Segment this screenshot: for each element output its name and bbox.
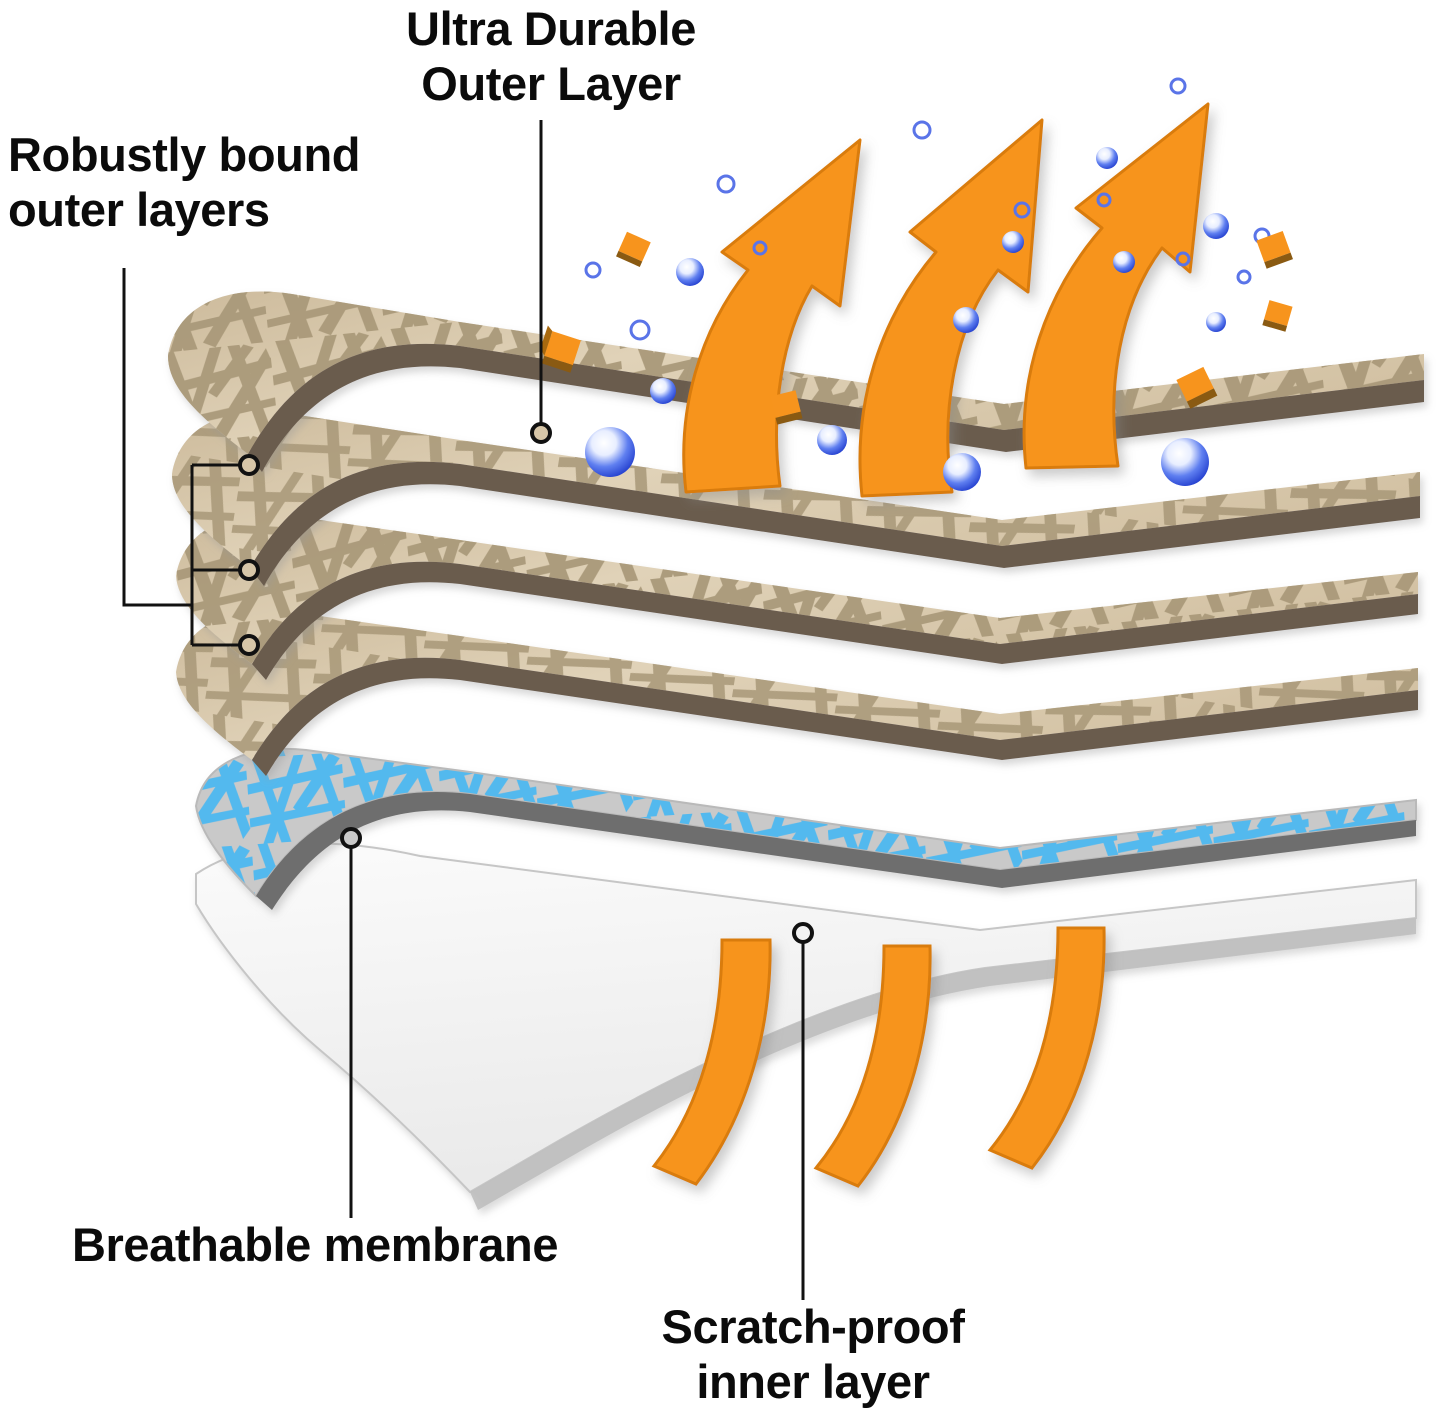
dirt-cube bbox=[1256, 231, 1293, 269]
droplet-small-ring bbox=[586, 263, 600, 277]
droplet-large bbox=[1206, 312, 1226, 332]
droplet-large bbox=[953, 307, 979, 333]
label-scratch-proof-inner-layer: Scratch-proof inner layer bbox=[628, 1300, 998, 1409]
droplet-large bbox=[817, 425, 847, 455]
droplet-small-ring bbox=[1238, 271, 1250, 283]
label-robustly-bound-outer-layers: Robustly bound outer layers bbox=[8, 128, 428, 237]
droplet-large bbox=[650, 378, 676, 404]
droplet-large bbox=[943, 453, 981, 491]
droplet-large bbox=[585, 427, 635, 477]
fabric-layer-diagram: Ultra Durable Outer Layer Robustly bound… bbox=[0, 0, 1445, 1410]
droplet-large bbox=[1161, 438, 1209, 486]
layer-scratch-proof-inner bbox=[196, 843, 1416, 1210]
droplet-small-ring bbox=[631, 321, 649, 339]
label-breathable-membrane: Breathable membrane bbox=[72, 1218, 672, 1273]
droplet-large bbox=[676, 258, 704, 286]
droplet-large bbox=[1002, 231, 1024, 253]
droplet-large bbox=[1203, 213, 1229, 239]
droplet-large bbox=[1096, 147, 1118, 169]
droplet-small-ring bbox=[718, 176, 734, 192]
dirt-cube bbox=[1262, 300, 1292, 332]
droplet-small-ring bbox=[1171, 79, 1185, 93]
label-ultra-durable-outer-layer: Ultra Durable Outer Layer bbox=[378, 2, 724, 111]
droplet-large bbox=[1113, 251, 1135, 273]
dirt-cube bbox=[616, 232, 651, 267]
droplet-small-ring bbox=[914, 122, 930, 138]
leader-ultra-durable bbox=[532, 120, 550, 442]
